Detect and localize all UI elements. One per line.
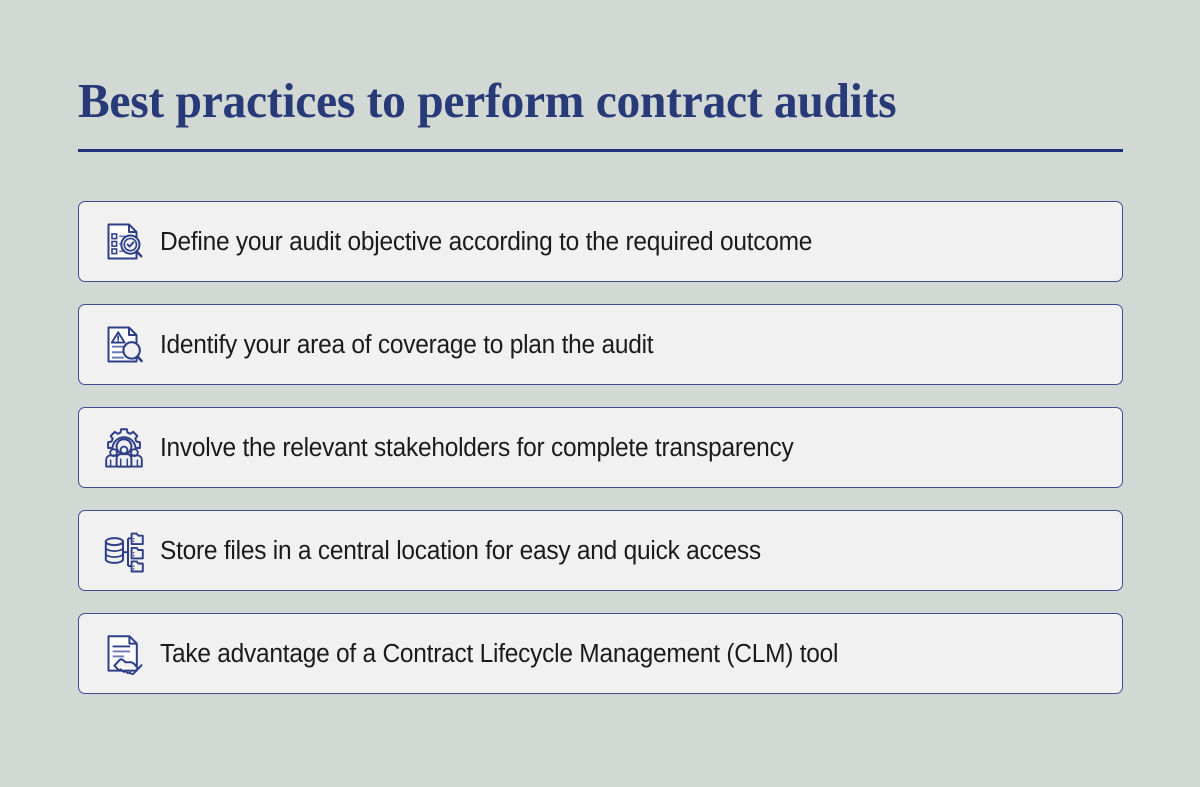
list-item[interactable]: Identify your area of coverage to plan t… (78, 304, 1123, 385)
list-item[interactable]: Take advantage of a Contract Lifecycle M… (78, 613, 1123, 694)
best-practices-list: Define your audit objective according to… (78, 201, 1123, 694)
contract-handshake-icon (101, 631, 147, 677)
list-item-label: Define your audit objective according to… (160, 227, 812, 257)
list-item-label: Store files in a central location for ea… (160, 536, 761, 566)
infographic-page: Best practices to perform contract audit… (0, 0, 1200, 787)
title-divider (78, 149, 1123, 152)
list-item[interactable]: Involve the relevant stakeholders for co… (78, 407, 1123, 488)
database-folders-icon (101, 528, 147, 574)
list-item[interactable]: Store files in a central location for ea… (78, 510, 1123, 591)
stakeholders-gear-icon (101, 425, 147, 471)
list-item-label: Identify your area of coverage to plan t… (160, 330, 653, 360)
document-warning-magnifier-icon (101, 322, 147, 368)
list-item-label: Involve the relevant stakeholders for co… (160, 433, 794, 463)
list-item-label: Take advantage of a Contract Lifecycle M… (160, 639, 838, 669)
page-title: Best practices to perform contract audit… (78, 72, 1092, 130)
document-checklist-magnifier-icon (101, 219, 147, 265)
header: Best practices to perform contract audit… (78, 72, 1123, 152)
list-item[interactable]: Define your audit objective according to… (78, 201, 1123, 282)
